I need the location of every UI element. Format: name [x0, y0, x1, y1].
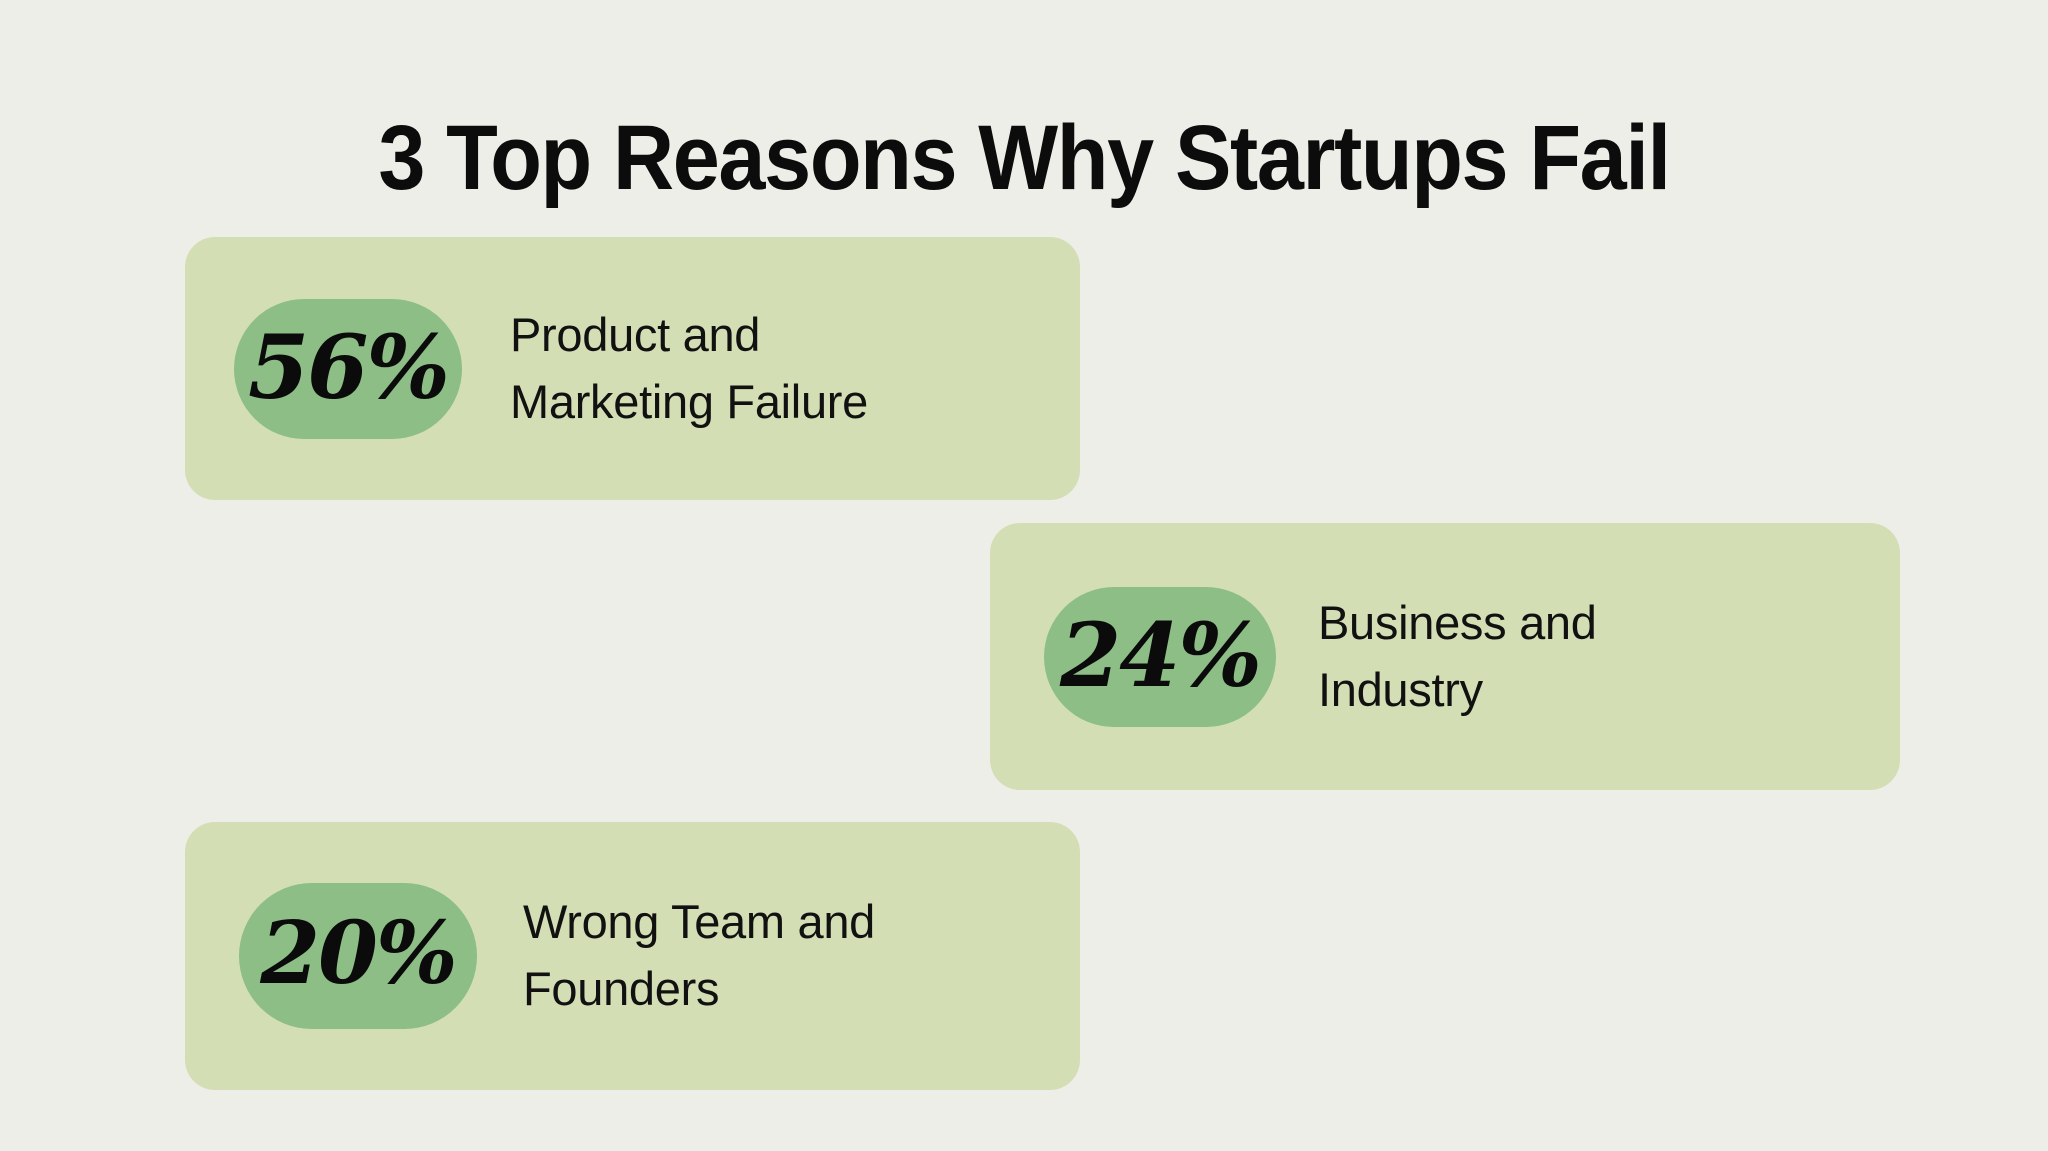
reason-label-1-line-1: Product and	[510, 302, 868, 369]
reason-label-3: Wrong Team and Founders	[523, 889, 875, 1022]
percentage-value-2: 24%	[1060, 611, 1260, 699]
reason-card-1: 56% Product and Marketing Failure	[185, 237, 1080, 500]
infographic-canvas: 3 Top Reasons Why Startups Fail 56% Prod…	[0, 0, 2048, 1151]
reason-card-2: 24% Business and Industry	[990, 523, 1900, 790]
reason-label-2-line-2: Industry	[1318, 657, 1597, 724]
reason-label-3-line-1: Wrong Team and	[523, 889, 875, 956]
reason-label-2-line-1: Business and	[1318, 590, 1597, 657]
reason-label-3-line-2: Founders	[523, 956, 875, 1023]
percentage-badge-1: 56%	[234, 299, 462, 439]
reason-label-1: Product and Marketing Failure	[510, 302, 868, 435]
reason-label-1-line-2: Marketing Failure	[510, 369, 868, 436]
reason-label-2: Business and Industry	[1318, 590, 1597, 723]
percentage-badge-2: 24%	[1044, 587, 1276, 727]
percentage-value-1: 56%	[248, 323, 448, 411]
percentage-value-3: 20%	[260, 911, 455, 997]
percentage-badge-3: 20%	[239, 883, 477, 1029]
page-title: 3 Top Reasons Why Startups Fail	[82, 110, 1966, 207]
reason-card-3: 20% Wrong Team and Founders	[185, 822, 1080, 1090]
